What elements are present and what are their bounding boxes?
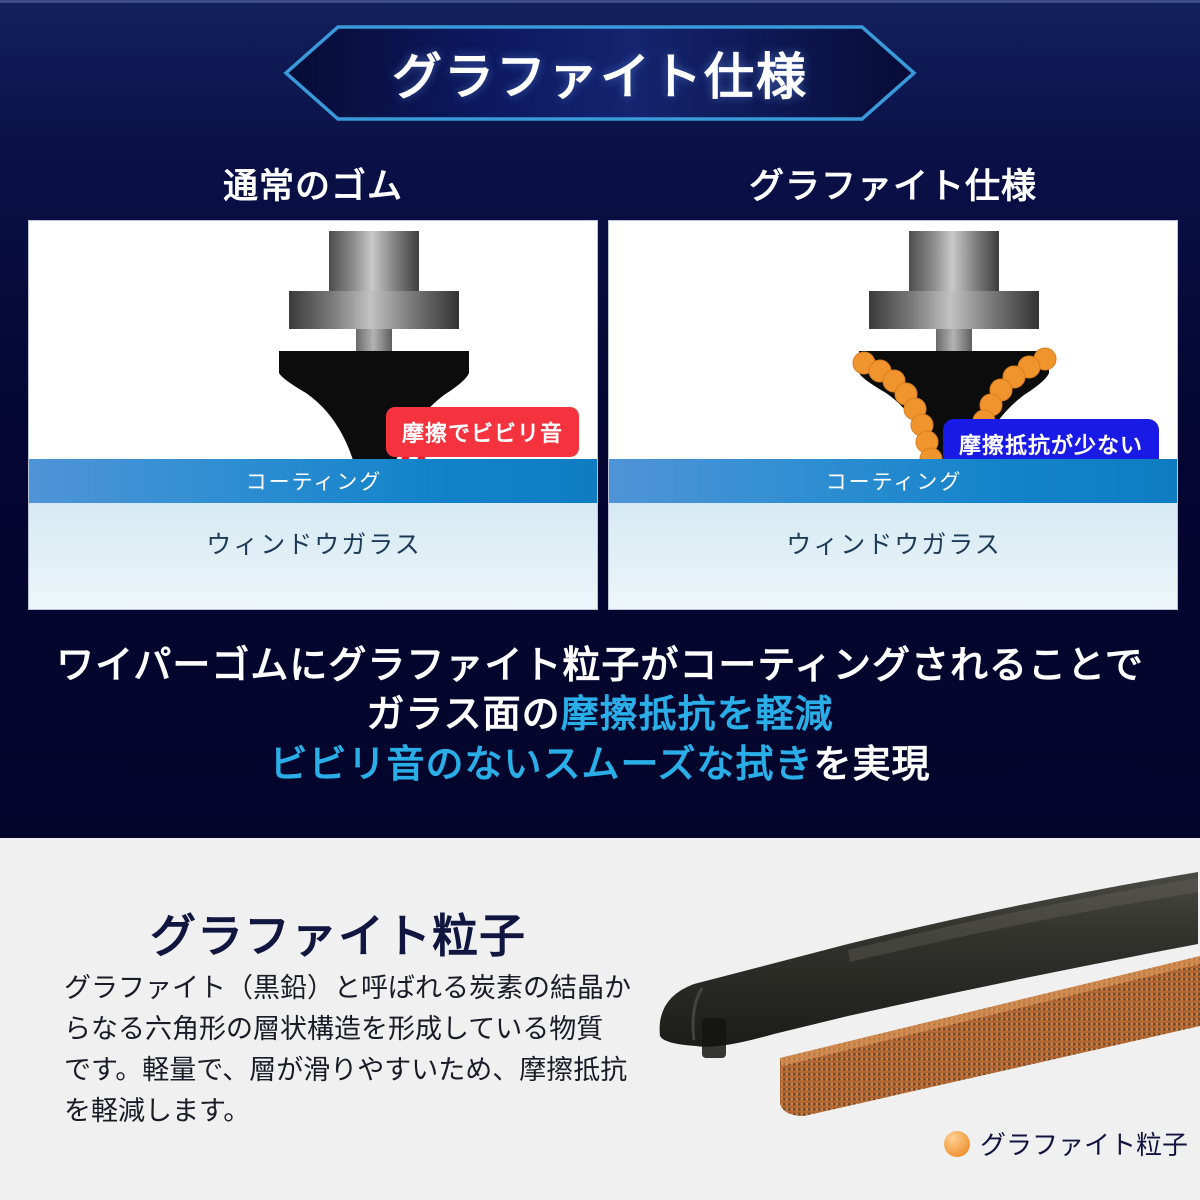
panel-left-title: 通常のゴム bbox=[28, 152, 598, 214]
coating-layer-left: コーティング bbox=[29, 459, 598, 503]
bottom-body-line-3: です。軽量で、層が滑りやすいため、摩擦抵抗 bbox=[64, 1050, 634, 1091]
description-line-2-plain: ガラス面の bbox=[366, 694, 560, 736]
header-banner: グラファイト仕様 bbox=[283, 24, 917, 122]
page-title: グラファイト仕様 bbox=[283, 24, 917, 122]
holder-flange bbox=[289, 291, 459, 329]
bottom-heading: グラファイト粒子 bbox=[150, 900, 526, 966]
top-hairline bbox=[0, 0, 1200, 3]
description-block: ワイパーゴムにグラファイト粒子がコーティングされることで ガラス面の摩擦抵抗を軽… bbox=[0, 642, 1200, 790]
wiper-blade-photo: グラファイト粒子 bbox=[598, 858, 1200, 1178]
description-line-1: ワイパーゴムにグラファイト粒子がコーティングされることで bbox=[0, 642, 1200, 691]
bottom-body-line-2: らなる六角形の層状構造を形成している物質 bbox=[64, 1009, 634, 1050]
description-line-3: ビビリ音のないスムーズな拭きを実現 bbox=[0, 741, 1200, 790]
glass-layer-right: ウィンドウガラス bbox=[609, 503, 1178, 609]
panel-right-title: グラファイト仕様 bbox=[608, 152, 1178, 214]
graphite-particle-legend: グラファイト粒子 bbox=[944, 1125, 1188, 1162]
wiper-holder-left bbox=[234, 231, 514, 356]
holder-cap bbox=[909, 231, 999, 291]
panel-left-diagram: 摩擦抵抗が大きい 摩擦でビビリ音 コーティング ウィンドウガラス bbox=[28, 220, 598, 610]
description-line-3-plain: を実現 bbox=[814, 744, 931, 786]
description-line-2-highlight: 摩擦抵抗を軽減 bbox=[561, 694, 834, 736]
panel-normal-rubber: 通常のゴム 摩擦抵抗が大きい bbox=[28, 152, 598, 620]
description-line-3-highlight: ビビリ音のないスムーズな拭き bbox=[269, 744, 813, 786]
panel-graphite-spec: グラファイト仕様 bbox=[608, 152, 1178, 620]
bottom-detail-section: グラファイト粒子 グラファイト（黒鉛）と呼ばれる炭素の結晶か らなる六角形の層状… bbox=[0, 838, 1200, 1200]
bottom-body-line-4: を軽減します。 bbox=[64, 1091, 634, 1132]
glass-layer-left: ウィンドウガラス bbox=[29, 503, 598, 609]
top-comparison-section: グラファイト仕様 通常のゴム 摩擦抵抗が大きい bbox=[0, 0, 1200, 838]
panel-right-diagram: スムーズな動き 摩擦抵抗が少ない グラファイト粒子 コーティング ウィンドウガラ… bbox=[608, 220, 1178, 610]
status-badge-noise: 摩擦でビビリ音 bbox=[386, 407, 579, 457]
graphite-dot-icon bbox=[944, 1131, 970, 1157]
coating-layer-right: コーティング bbox=[609, 459, 1178, 503]
bottom-body-line-1: グラファイト（黒鉛）と呼ばれる炭素の結晶か bbox=[64, 968, 634, 1009]
holder-neck bbox=[356, 329, 392, 353]
holder-flange bbox=[869, 291, 1039, 329]
legend-label: グラファイト粒子 bbox=[980, 1125, 1188, 1162]
description-line-2: ガラス面の摩擦抵抗を軽減 bbox=[0, 691, 1200, 740]
wiper-holder-right bbox=[814, 231, 1094, 356]
bottom-body-text: グラファイト（黒鉛）と呼ばれる炭素の結晶か らなる六角形の層状構造を形成している… bbox=[64, 968, 634, 1132]
holder-cap bbox=[329, 231, 419, 291]
